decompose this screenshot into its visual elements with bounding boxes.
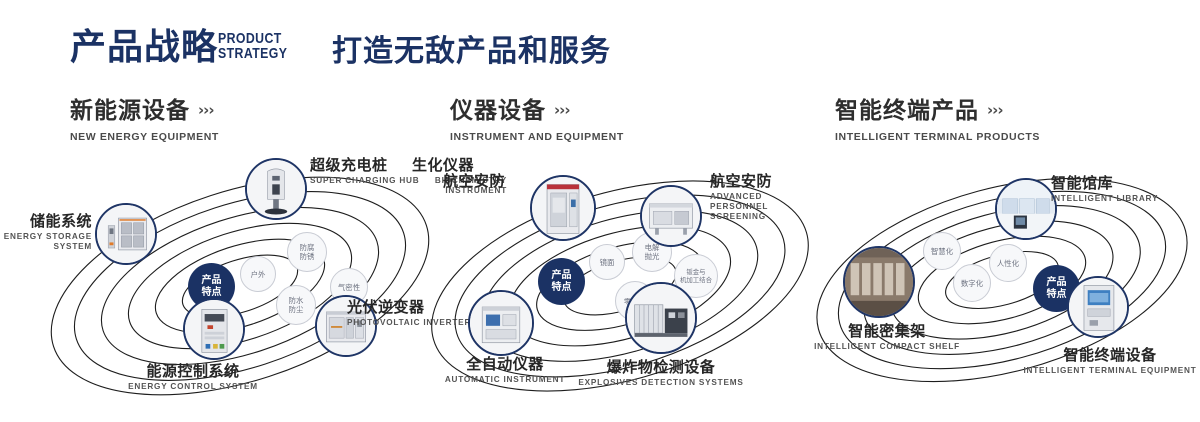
caption-explosives-detection-systems: 爆炸物检测设备 EXPLOSIVES DETECTION SYSTEMS bbox=[571, 358, 751, 388]
super-charging-pile-photo bbox=[247, 160, 305, 218]
chevron-right-icon: ››› bbox=[987, 97, 1003, 123]
caption-en: ENERGY CONTROL SYSTEM bbox=[93, 382, 293, 392]
feature-bubble-label-2: 防尘 bbox=[289, 305, 304, 314]
feature-bubble-mirror-finish: 镜面 bbox=[589, 244, 625, 280]
core-label-line2: 特点 bbox=[1047, 289, 1067, 301]
node-intelligent-terminal-equipment[interactable] bbox=[1067, 276, 1129, 338]
feature-bubble-label: 防腐 bbox=[300, 243, 315, 252]
caption-cn: 智能馆库 bbox=[1051, 174, 1158, 192]
feature-bubble-label-2: 抛光 bbox=[645, 252, 660, 261]
diagram-instrument: 产品 特点 镜面 电解 抛光 钣金与 机加工结合 零缺陷 生化仪器 BIOCHE… bbox=[420, 150, 820, 422]
section-title-en: INSTRUMENT AND EQUIPMENT bbox=[450, 131, 624, 143]
caption-energy-storage-system: 储能系统 ENERGY STORAGE SYSTEM bbox=[0, 212, 92, 252]
feature-bubble-label: 钣金与 bbox=[686, 268, 705, 276]
caption-en: INTELLIGENT TERMINAL EQUIPMENT bbox=[1020, 366, 1200, 376]
feature-bubble-digitalized: 数字化 bbox=[953, 264, 991, 302]
feature-bubble-label: 智慧化 bbox=[931, 247, 953, 256]
feature-bubble-label: 气密性 bbox=[338, 283, 360, 292]
section-heading-intelligent-terminal: 智能终端产品››› INTELLIGENT TERMINAL PRODUCTS bbox=[835, 97, 1040, 143]
caption-cn: 智能密集架 bbox=[797, 322, 977, 340]
node-intelligent-compact-shelf[interactable] bbox=[843, 246, 915, 318]
caption-en: INTELLIGENT COMPACT SHELF bbox=[797, 342, 977, 352]
brand-en-line1: PRODUCT bbox=[218, 31, 287, 46]
section-title-cn: 新能源设备››› bbox=[70, 97, 219, 124]
caption-en: EXPLOSIVES DETECTION SYSTEMS bbox=[571, 378, 751, 388]
section-title-cn-text: 智能终端产品 bbox=[835, 98, 979, 124]
personnel-screening-machine-photo bbox=[642, 187, 700, 245]
feature-bubble-label-2: 防锈 bbox=[300, 252, 315, 261]
core-bubble-product-features: 产品 特点 bbox=[538, 258, 585, 305]
caption-advanced-personnel-screening: 航空安防 ADVANCED PERSONNEL SCREENING bbox=[710, 172, 798, 222]
automatic-instrument-photo bbox=[470, 292, 532, 354]
brand-en-line2: STRATEGY bbox=[218, 46, 287, 61]
caption-cn: 爆炸物检测设备 bbox=[571, 358, 751, 376]
caption-intelligent-compact-shelf: 智能密集架 INTELLIGENT COMPACT SHELF bbox=[797, 322, 977, 352]
core-label-line2: 特点 bbox=[552, 282, 572, 294]
node-explosives-detection-systems[interactable] bbox=[625, 282, 697, 354]
caption-en: ENERGY STORAGE SYSTEM bbox=[0, 232, 92, 252]
feature-bubble-label: 人性化 bbox=[997, 259, 1019, 268]
feature-bubble-label-2: 机加工结合 bbox=[680, 276, 712, 284]
section-heading-new-energy: 新能源设备››› NEW ENERGY EQUIPMENT bbox=[70, 97, 219, 143]
node-automatic-instrument[interactable] bbox=[468, 290, 534, 356]
energy-control-cabinet-photo bbox=[185, 300, 243, 358]
caption-cn: 全自动仪器 bbox=[415, 355, 595, 373]
feature-bubble-waterproof: 防水 防尘 bbox=[276, 285, 316, 325]
node-energy-control-system[interactable] bbox=[183, 298, 245, 360]
core-label-line1: 产品 bbox=[202, 275, 222, 287]
node-intelligent-library[interactable] bbox=[995, 178, 1057, 240]
energy-storage-cabinet-photo bbox=[97, 205, 155, 263]
caption-intelligent-library: 智能馆库 INTELLIGENT LIBRARY bbox=[1051, 174, 1158, 204]
section-title-en: NEW ENERGY EQUIPMENT bbox=[70, 131, 219, 143]
explosives-detection-system-photo bbox=[627, 284, 695, 352]
feature-bubble-label: 户外 bbox=[251, 270, 266, 279]
caption-cn: 能源控制系统 bbox=[93, 362, 293, 380]
section-title-cn: 仪器设备››› bbox=[450, 97, 624, 124]
node-advanced-personnel-screening[interactable] bbox=[640, 185, 702, 247]
section-heading-instrument: 仪器设备››› INSTRUMENT AND EQUIPMENT bbox=[450, 97, 624, 143]
page-header: 产品战略 PRODUCT STRATEGY 打造无敌产品和服务 bbox=[0, 0, 1200, 92]
caption-aviation-security-left: 航空安防 bbox=[395, 172, 505, 190]
page-headline: 打造无敌产品和服务 bbox=[332, 33, 611, 71]
feature-bubble-label: 镜面 bbox=[600, 258, 615, 267]
diagram-intelligent-terminal: 智慧化 人性化 数字化 产品 特点 智能馆库 INTELLIGENT LIBRA… bbox=[805, 150, 1200, 422]
caption-cn: 储能系统 bbox=[0, 212, 92, 230]
feature-bubble-humanized: 人性化 bbox=[989, 244, 1027, 282]
feature-bubble-intelligent: 智慧化 bbox=[923, 232, 961, 270]
node-biochemistry-instrument[interactable] bbox=[530, 175, 596, 241]
core-label-line2: 特点 bbox=[202, 287, 222, 299]
chevron-right-icon: ››› bbox=[198, 97, 214, 123]
caption-automatic-instrument: 全自动仪器 AUTOMATIC INSTRUMENT bbox=[415, 355, 595, 385]
feature-bubble-outdoor: 户外 bbox=[240, 256, 276, 292]
section-title-cn-text: 仪器设备 bbox=[450, 98, 546, 124]
section-title-cn-text: 新能源设备 bbox=[70, 98, 190, 124]
core-label-line1: 产品 bbox=[1047, 277, 1067, 289]
intelligent-library-photo bbox=[997, 180, 1055, 238]
caption-en: INTELLIGENT LIBRARY bbox=[1051, 194, 1158, 204]
brand-title-en: PRODUCT STRATEGY bbox=[218, 31, 287, 61]
feature-bubble-anticorrosion: 防腐 防锈 bbox=[287, 232, 327, 272]
diagram-new-energy: 产品 特点 户外 防腐 防锈 气密性 防水 防尘 储能系统 ENERGY STO… bbox=[40, 150, 440, 422]
caption-intelligent-terminal-equipment: 智能终端设备 INTELLIGENT TERMINAL EQUIPMENT bbox=[1020, 346, 1200, 376]
brand-title-cn: 产品战略 bbox=[70, 26, 218, 70]
caption-cn: 航空安防 bbox=[710, 172, 798, 190]
intelligent-terminal-kiosk-photo bbox=[1069, 278, 1127, 336]
section-title-cn: 智能终端产品››› bbox=[835, 97, 1040, 124]
caption-cn: 智能终端设备 bbox=[1020, 346, 1200, 364]
biochemistry-instrument-photo bbox=[532, 177, 594, 239]
feature-bubble-label: 防水 bbox=[289, 296, 304, 305]
caption-en: AUTOMATIC INSTRUMENT bbox=[415, 375, 595, 385]
node-energy-storage-system[interactable] bbox=[95, 203, 157, 265]
chevron-right-icon: ››› bbox=[554, 97, 570, 123]
feature-bubble-label: 数字化 bbox=[961, 279, 983, 288]
caption-energy-control-system: 能源控制系统 ENERGY CONTROL SYSTEM bbox=[93, 362, 293, 392]
core-label-line1: 产品 bbox=[552, 270, 572, 282]
intelligent-compact-shelf-photo bbox=[845, 248, 913, 316]
caption-en: ADVANCED PERSONNEL SCREENING bbox=[710, 192, 798, 222]
node-super-charging-hub[interactable] bbox=[245, 158, 307, 220]
caption-cn: 航空安防 bbox=[395, 172, 505, 190]
section-title-en: INTELLIGENT TERMINAL PRODUCTS bbox=[835, 131, 1040, 143]
